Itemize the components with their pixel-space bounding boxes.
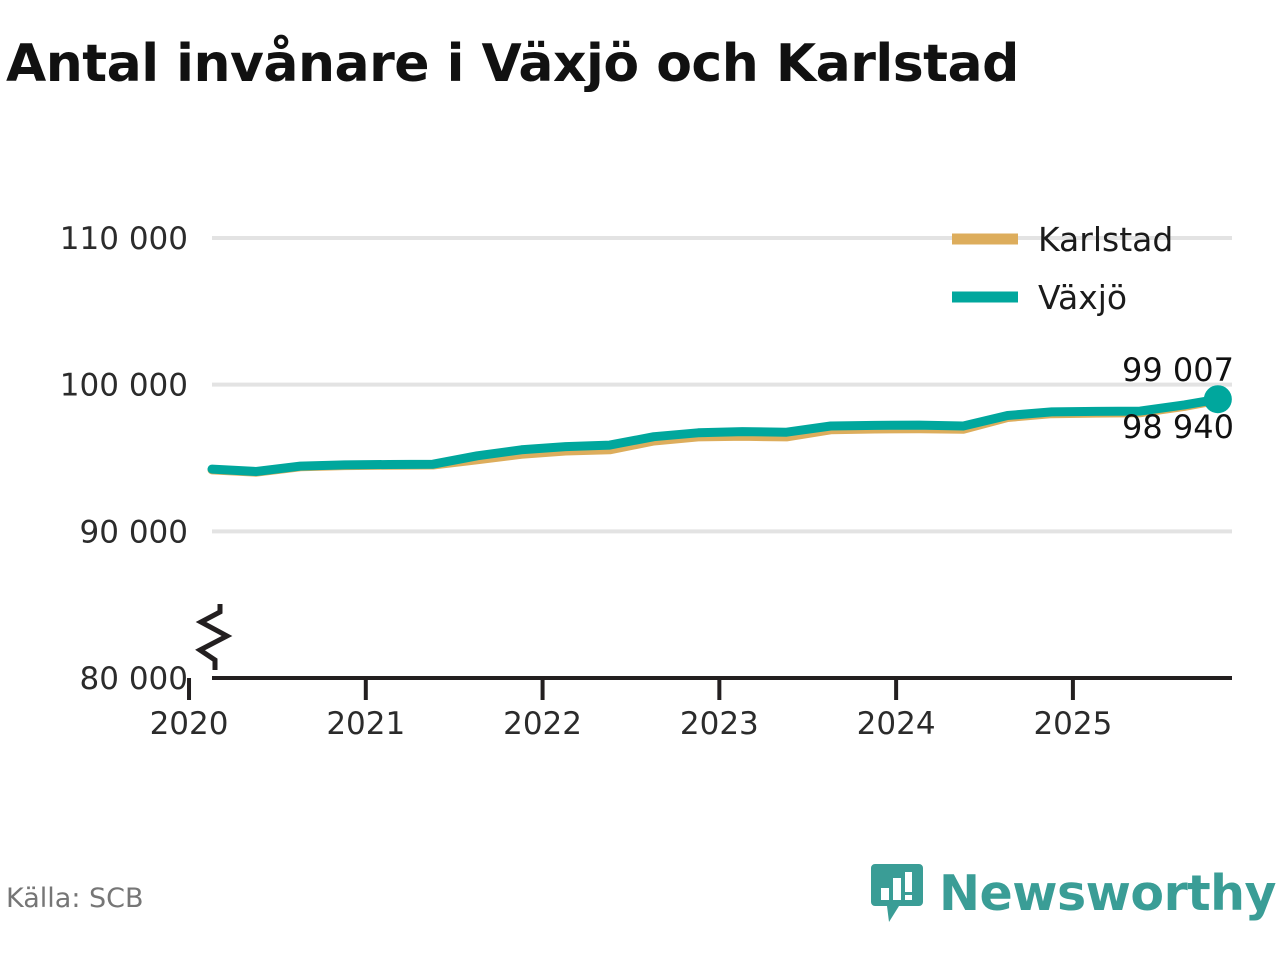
y-axis-tick-label: 80 000 [80, 661, 188, 697]
x-axis-tick-label: 2025 [1033, 706, 1112, 742]
line-chart-plot: 80 00090 000100 000110 000 2020202120222… [0, 0, 1280, 800]
legend-label-vaxjo: Växjö [1038, 278, 1127, 317]
axis-break-zigzag-icon [200, 604, 227, 670]
x-axis-tick-labels: 202020212022202320242025 [150, 706, 1113, 742]
y-axis-tick-label: 90 000 [80, 514, 188, 550]
x-axis-tick-label: 2024 [857, 706, 936, 742]
brand-wordmark: Newsworthy [939, 865, 1276, 922]
source-note: Källa: SCB [6, 883, 144, 914]
series-line-vaxjo [212, 399, 1218, 471]
legend-label-karlstad: Karlstad [1038, 220, 1173, 259]
x-axis-tick-label: 2020 [150, 706, 229, 742]
bar-chart-speech-bubble-icon [869, 862, 925, 924]
brand-logo: Newsworthy [869, 862, 1276, 924]
legend: Karlstad Växjö [952, 220, 1173, 317]
x-axis-tick-label: 2023 [680, 706, 759, 742]
y-axis-tick-label: 100 000 [60, 368, 188, 404]
y-axis-tick-labels: 80 00090 000100 000110 000 [60, 221, 188, 697]
x-axis-ticks-group [189, 678, 1073, 700]
x-axis-tick-label: 2021 [326, 706, 405, 742]
end-value-label-karlstad: 98 940 [1122, 408, 1234, 446]
chart-figure: Antal invånare i Växjö och Karlstad 80 0… [0, 0, 1280, 960]
end-value-label-vaxjo: 99 007 [1122, 351, 1234, 389]
y-axis-tick-label: 110 000 [60, 221, 188, 257]
x-axis-tick-label: 2022 [503, 706, 582, 742]
